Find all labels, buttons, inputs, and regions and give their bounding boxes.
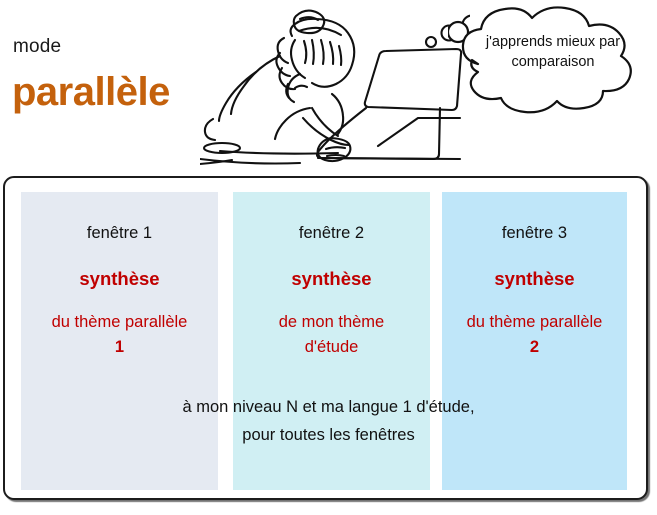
window-label: fenêtre 1: [21, 224, 218, 243]
synthesis-label: synthèse: [442, 268, 627, 290]
synthesis-detail: de mon thème d'étude: [233, 310, 430, 360]
person-at-laptop-icon: [200, 0, 470, 176]
caption-line-2: pour toutes les fenêtres: [0, 421, 657, 449]
thought-bubble-text: j'apprends mieux par comparaison: [478, 32, 628, 72]
synthesis-detail-line-2: d'étude: [305, 338, 359, 356]
synthesis-label: synthèse: [233, 268, 430, 290]
thought-bubble-icon: [448, 6, 653, 146]
synthesis-detail: du thème parallèle 1: [21, 310, 218, 360]
window-label: fenêtre 2: [233, 224, 430, 243]
window-label: fenêtre 3: [442, 224, 627, 243]
synthesis-detail-line-1: de mon thème: [279, 313, 384, 331]
page-title: parallèle: [12, 70, 170, 115]
panel-caption: à mon niveau N et ma langue 1 d'étude, p…: [0, 393, 657, 449]
caption-line-1: à mon niveau N et ma langue 1 d'étude,: [0, 393, 657, 421]
synthesis-detail-line-1: du thème parallèle: [467, 313, 603, 331]
synthesis-detail: du thème parallèle 2: [442, 310, 627, 360]
header-area: mode parallèle: [0, 0, 657, 175]
synthesis-detail-line-1: du thème parallèle: [52, 313, 188, 331]
synthesis-label: synthèse: [21, 268, 218, 290]
synthesis-detail-line-2: 2: [530, 338, 539, 356]
synthesis-detail-line-2: 1: [115, 338, 124, 356]
mode-label: mode: [13, 36, 61, 58]
